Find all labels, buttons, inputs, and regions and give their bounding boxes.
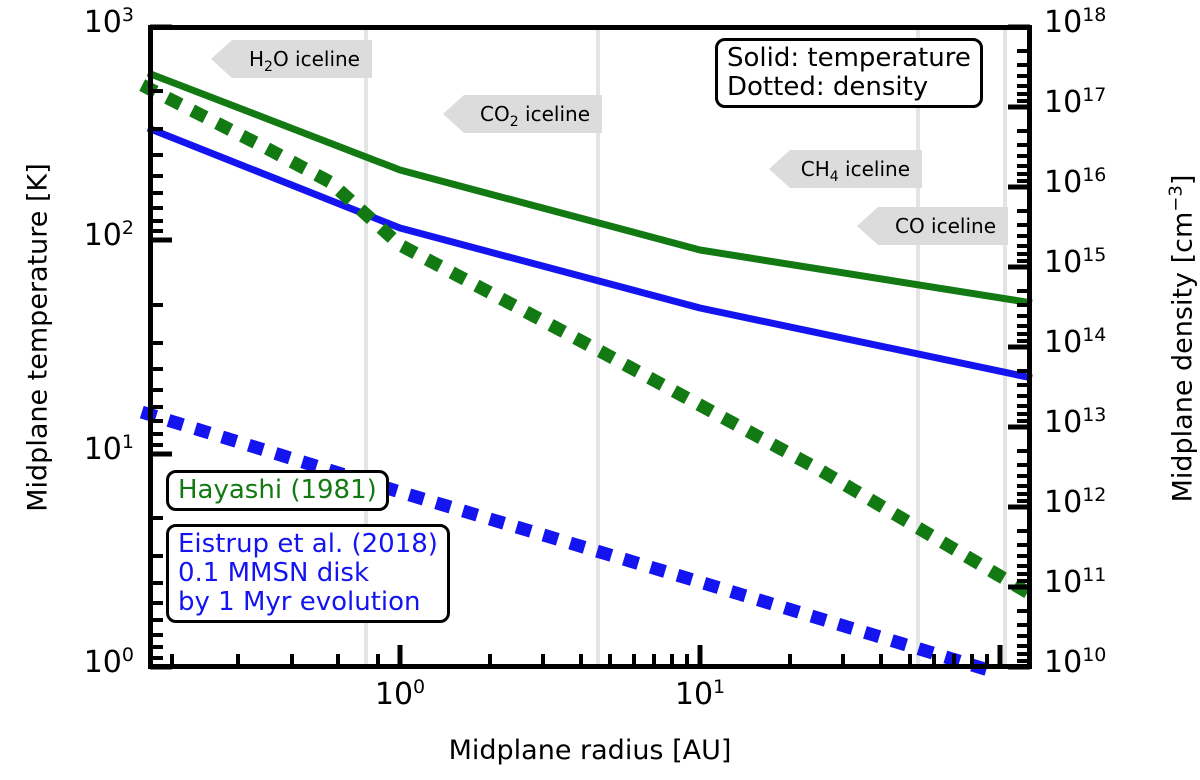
- xtick-label-1: 101: [620, 680, 780, 710]
- legend-eistrup-line-1: Eistrup et al. (2018): [178, 530, 438, 559]
- legend-eistrup: Eistrup et al. (2018) 0.1 MMSN disk by 1…: [166, 524, 450, 623]
- style-note-line-1: Solid: temperature: [727, 44, 971, 73]
- legend-hayashi: Hayashi (1981): [166, 470, 389, 511]
- ytick-label-left-3: 100: [14, 648, 134, 678]
- y-axis-label-right: Midplane density [cm−3]: [1166, 129, 1199, 549]
- ytick-marks-right: [1008, 27, 1030, 667]
- iceline-h2o-label: H2O iceline: [249, 47, 360, 71]
- legend-style-note: Solid: temperature Dotted: density: [715, 38, 983, 108]
- y-axis-label-left: Midplane temperature [K]: [23, 128, 54, 548]
- x-axis-label: Midplane radius [AU]: [148, 735, 1032, 766]
- style-note-line-2: Dotted: density: [727, 73, 971, 102]
- iceline-co2-label: CO2 iceline: [480, 102, 590, 126]
- arrow-left-icon: [769, 150, 790, 188]
- ytick-label-right-7: 1011: [1044, 568, 1194, 598]
- legend-eistrup-line-2: 0.1 MMSN disk: [178, 559, 438, 588]
- legend-eistrup-line-3: by 1 Myr evolution: [178, 588, 438, 617]
- arrow-left-icon: [857, 207, 878, 245]
- annotation-iceline-co2: CO2 iceline: [464, 95, 602, 133]
- arrow-left-icon: [211, 40, 232, 78]
- xtick-label-0: 100: [320, 680, 480, 710]
- annotation-iceline-h2o: H2O iceline: [232, 40, 372, 78]
- annotation-iceline-ch4: CH4 iceline: [790, 150, 922, 188]
- iceline-co-label: CO iceline: [895, 214, 996, 238]
- figure-midplane-disk-profile: 103 102 101 100 1018 1017 1016 1015 1014…: [0, 0, 1200, 780]
- ytick-label-left-0: 103: [14, 8, 134, 38]
- legend-hayashi-label: Hayashi (1981): [178, 476, 377, 505]
- annotation-iceline-co: CO iceline: [878, 207, 1008, 245]
- ytick-label-right-8: 1010: [1044, 648, 1194, 678]
- iceline-ch4-label: CH4 iceline: [801, 157, 910, 181]
- arrow-left-icon: [443, 95, 464, 133]
- xtick-marks: [172, 645, 1000, 667]
- ytick-label-right-1: 1017: [1044, 88, 1194, 118]
- ytick-label-right-0: 1018: [1044, 8, 1194, 38]
